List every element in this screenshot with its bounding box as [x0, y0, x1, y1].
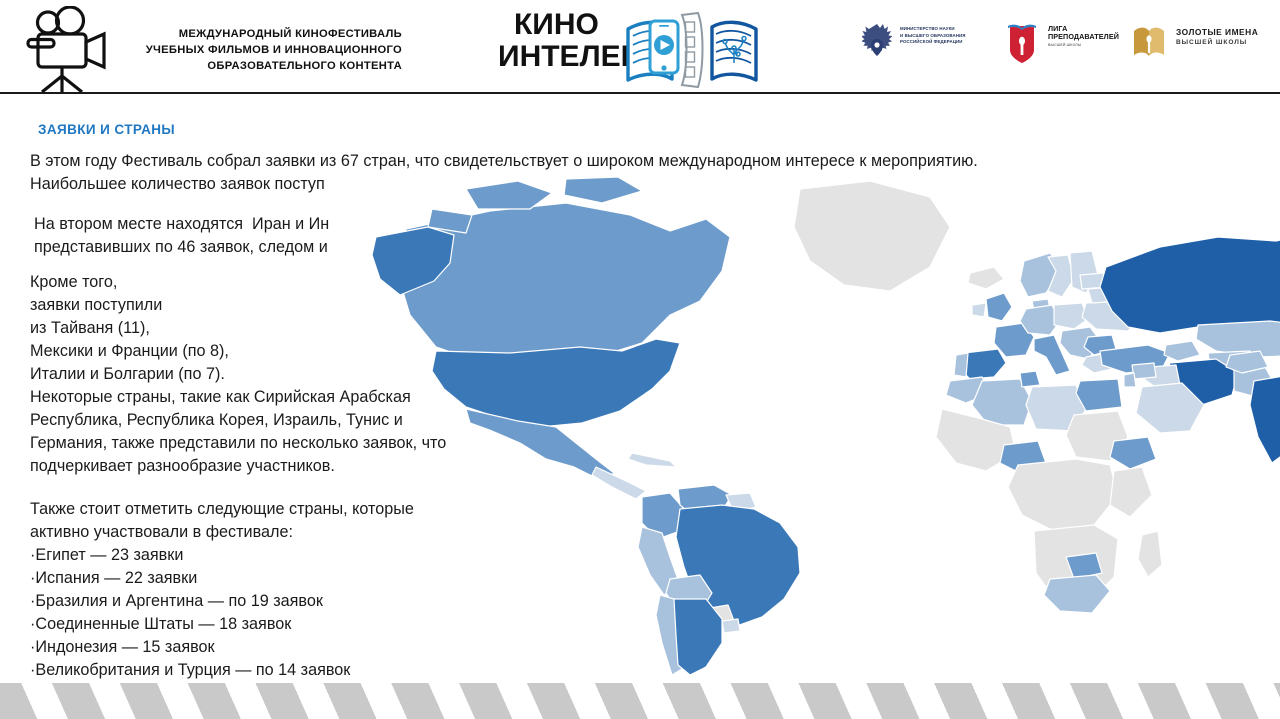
partner-logos: МИНИСТЕРСТВО НАУКИ И ВЫСШЕГО ОБРАЗОВАНИЯ… [862, 18, 1272, 76]
country-ireland [972, 303, 986, 317]
country-india [1250, 375, 1280, 463]
country-iceland [968, 267, 1004, 289]
paragraph-additional-countries: Кроме того, заявки поступили из Тайваня … [30, 271, 530, 478]
more-line-7: Республика, Республика Корея, Израиль, Т… [30, 409, 530, 432]
country-central-america [592, 467, 646, 499]
country-tunisia [1020, 371, 1040, 387]
presentation-slide: МЕЖДУНАРОДНЫЙ КИНОФЕСТИВАЛЬ УЧЕБНЫХ ФИЛЬ… [0, 0, 1280, 719]
more-line-8: Германия, также представили по несколько… [30, 432, 530, 455]
footer-stripe-pattern [0, 683, 1280, 719]
country-argentina [674, 599, 722, 675]
paragraph-active-countries: Также стоит отметить следующие страны, к… [30, 498, 530, 682]
paragraph-second-place: На втором месте находятся Иран и Ин пред… [34, 213, 504, 259]
also-item-brazil-argentina: ·Бразилия и Аргентина — по 19 заявок [30, 590, 530, 613]
festival-title-line-2: УЧЕБНЫХ ФИЛЬМОВ И ИННОВАЦИОННОГО [122, 43, 402, 59]
country-israel [1124, 373, 1136, 387]
partner-minobrnauki: МИНИСТЕРСТВО НАУКИ И ВЫСШЕГО ОБРАЗОВАНИЯ… [862, 18, 1002, 74]
country-ethiopia [1110, 437, 1156, 469]
country-greenland [794, 181, 950, 291]
partner-liga-text: ЛИГА ПРЕПОДАВАТЕЛЕЙ ВЫСШЕЙ ШКОЛЫ [1048, 25, 1119, 47]
intro-line-2: Наибольшее количество заявок поступ [30, 173, 1270, 196]
partner-zolotye-imena: ЗОЛОТЫЕ ИМЕНА ВЫСШЕЙ ШКОЛЫ [1130, 18, 1272, 74]
partner-zolotye-text: ЗОЛОТЫЕ ИМЕНА ВЫСШЕЙ ШКОЛЫ [1176, 28, 1258, 46]
open-book-smartphone-film-circuit-icon [622, 7, 762, 91]
also-line-1: Также стоит отметить следующие страны, к… [30, 498, 530, 521]
page-title: ЗАЯВКИ И СТРАНЫ [38, 122, 175, 137]
country-egypt [1076, 379, 1122, 411]
more-line-1: Кроме того, [30, 271, 530, 294]
partner-minobrnauki-text: МИНИСТЕРСТВО НАУКИ И ВЫСШЕГО ОБРАЗОВАНИЯ… [900, 26, 966, 46]
festival-title: МЕЖДУНАРОДНЫЙ КИНОФЕСТИВАЛЬ УЧЕБНЫХ ФИЛЬ… [122, 27, 402, 75]
country-central-africa [1008, 459, 1118, 531]
gold-book-icon [1130, 22, 1168, 64]
country-uruguay [722, 619, 740, 633]
second-place-line-2: представивших по 46 заявок, следом и [34, 236, 504, 259]
more-line-2: заявки поступили [30, 294, 530, 317]
also-item-uk-turkey: ·Великобритания и Турция — по 14 заявок [30, 659, 530, 682]
more-line-5: Италии и Болгарии (по 7). [30, 363, 530, 386]
country-south-africa [1044, 575, 1110, 613]
brand-line-1: КИНО [514, 8, 599, 42]
more-line-6: Некоторые страны, такие как Сирийская Ар… [30, 386, 530, 409]
also-item-indonesia: ·Индонезия — 15 заявок [30, 636, 530, 659]
header-divider [0, 92, 1280, 94]
country-syria [1132, 363, 1156, 379]
also-item-united-states: ·Соединенные Штаты — 18 заявок [30, 613, 530, 636]
more-line-9: подчеркивает разнообразие участников. [30, 455, 530, 478]
russian-federation-coat-of-arms-icon [862, 22, 892, 64]
festival-title-line-1: МЕЖДУНАРОДНЫЙ КИНОФЕСТИВАЛЬ [122, 27, 402, 43]
slide-header: МЕЖДУНАРОДНЫЙ КИНОФЕСТИВАЛЬ УЧЕБНЫХ ФИЛЬ… [0, 0, 1280, 96]
country-east-africa [1110, 467, 1152, 517]
country-russia [1100, 231, 1280, 333]
brand-logo: КИНО ИНТЕЛЕЕКТ [498, 5, 768, 91]
film-camera-icon [12, 6, 116, 92]
country-portugal [954, 353, 968, 377]
more-line-3: из Тайваня (11), [30, 317, 530, 340]
country-madagascar [1138, 531, 1162, 577]
festival-title-line-3: ОБРАЗОВАТЕЛЬНОГО КОНТЕНТА [122, 59, 402, 75]
country-united-kingdom [986, 293, 1012, 321]
intro-line-1: В этом году Фестиваль собрал заявки из 6… [30, 150, 1270, 173]
also-item-spain: ·Испания — 22 заявки [30, 567, 530, 590]
country-cuba [628, 453, 676, 467]
also-item-egypt: ·Египет — 23 заявки [30, 544, 530, 567]
second-place-line-1: На втором месте находятся Иран и Ин [34, 213, 504, 236]
partner-liga-prepodavateley: ЛИГА ПРЕПОДАВАТЕЛЕЙ ВЫСШЕЙ ШКОЛЫ [1004, 18, 1132, 74]
red-shield-book-icon [1004, 22, 1040, 66]
country-caucasus [1164, 341, 1200, 361]
also-line-2: активно участвовали в фестивале: [30, 521, 530, 544]
paragraph-intro: В этом году Фестиваль собрал заявки из 6… [30, 150, 1270, 196]
more-line-4: Мексики и Франции (по 8), [30, 340, 530, 363]
